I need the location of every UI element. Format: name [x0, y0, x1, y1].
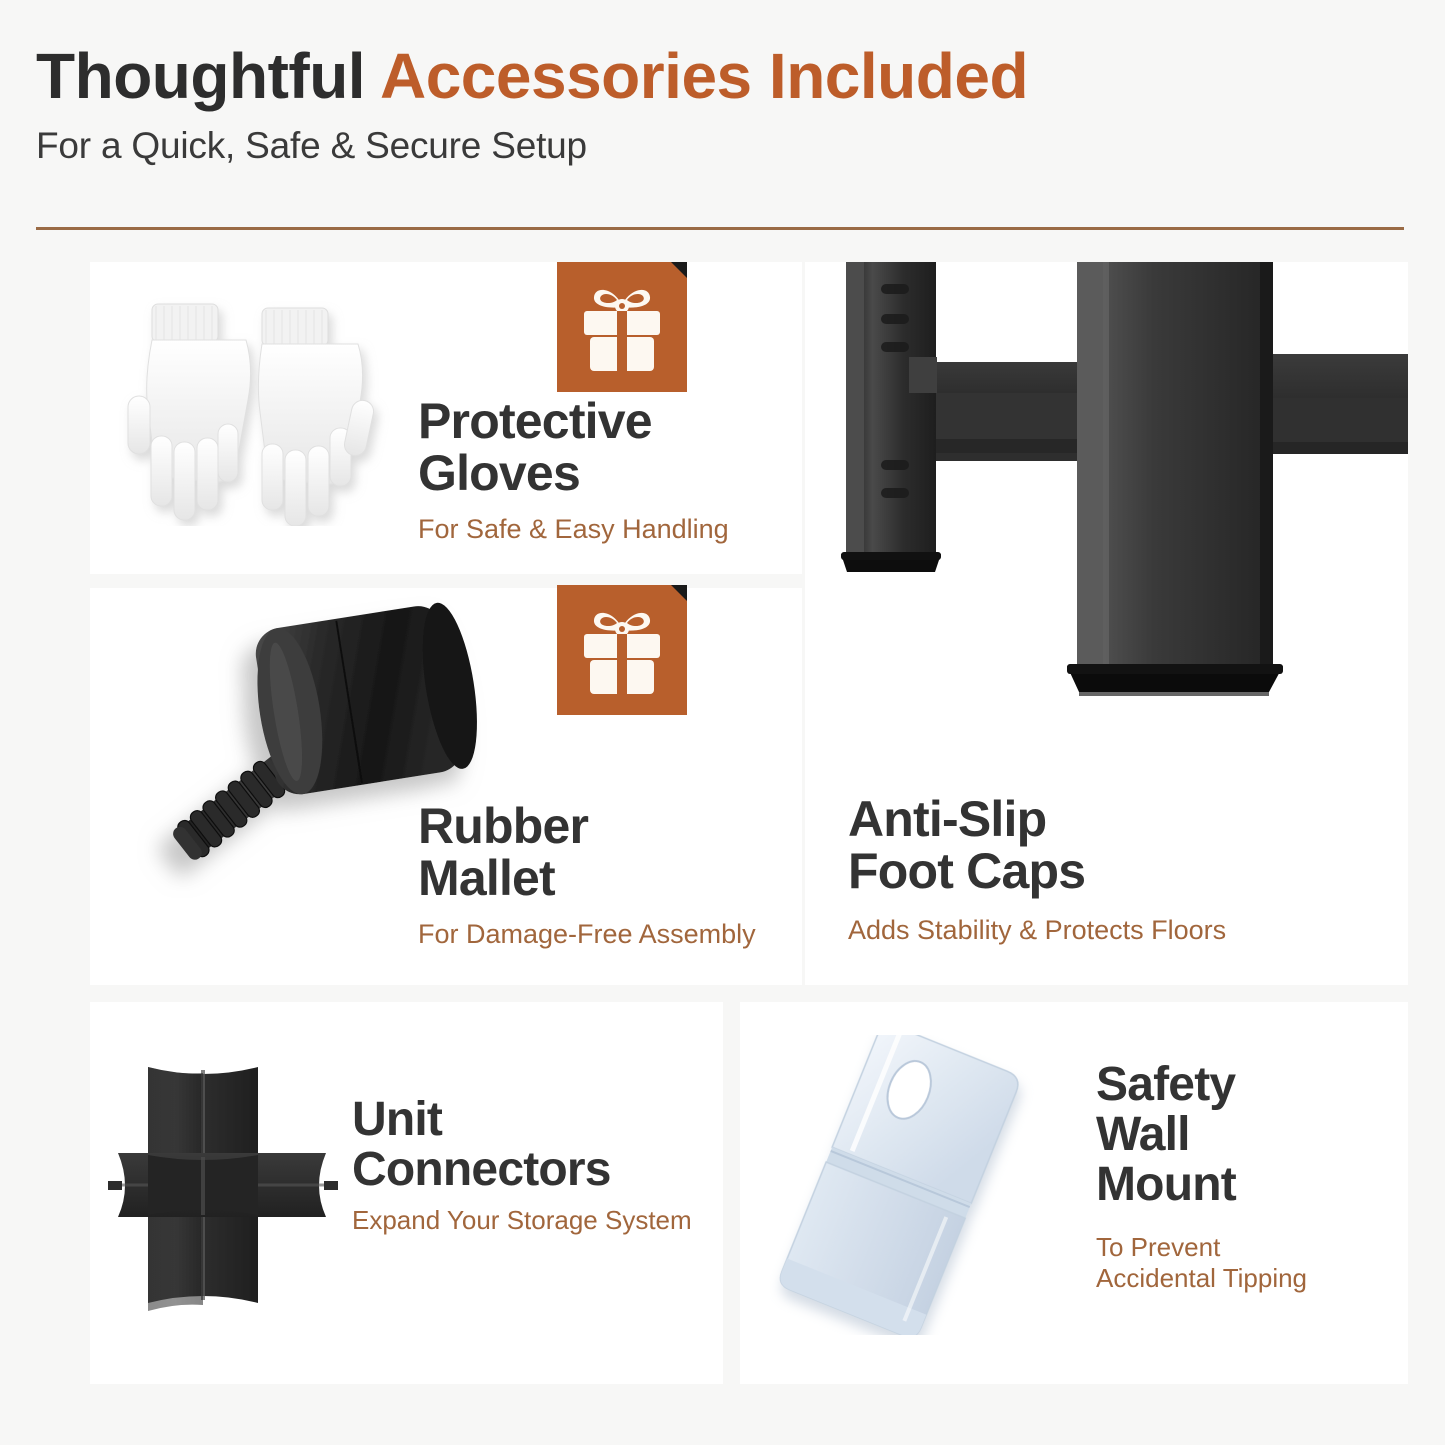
gift-icon [579, 606, 665, 694]
card-title-safety-wall-mount: Safety Wall Mount [1096, 1060, 1236, 1210]
card-title-rubber-mallet: Rubber Mallet [418, 800, 588, 904]
badge-corner-fold [671, 262, 687, 278]
header: Thoughtful Accessories Included For a Qu… [36, 44, 1411, 167]
page-title-accent: Accessories Included [380, 40, 1028, 112]
page-subtitle: For a Quick, Safe & Secure Setup [36, 125, 1411, 167]
gift-badge-gloves [557, 262, 687, 392]
gift-icon [579, 283, 665, 371]
card-caption-safety-wall-mount: To Prevent Accidental Tipping [1096, 1232, 1307, 1293]
infographic-page: Thoughtful Accessories Included For a Qu… [0, 0, 1445, 1445]
gift-badge-mallet [557, 585, 687, 715]
card-caption-rubber-mallet: For Damage-Free Assembly [418, 919, 756, 951]
page-title: Thoughtful Accessories Included [36, 44, 1411, 109]
wall-mount-bracket-icon [770, 1035, 1060, 1335]
shelf-legs-foot-caps-icon [805, 262, 1408, 782]
page-title-dark: Thoughtful [36, 40, 380, 112]
card-caption-protective-gloves: For Safe & Easy Handling [418, 514, 729, 546]
card-title-unit-connectors: Unit Connectors [352, 1095, 611, 1195]
protective-gloves-icon [118, 296, 408, 526]
card-caption-anti-slip-foot-caps: Adds Stability & Protects Floors [848, 915, 1226, 947]
card-title-protective-gloves: Protective Gloves [418, 395, 652, 499]
unit-connector-icon [108, 1055, 338, 1315]
header-divider [36, 227, 1404, 230]
rubber-mallet-icon [100, 595, 540, 965]
card-title-anti-slip-foot-caps: Anti-Slip Foot Caps [848, 793, 1085, 897]
badge-corner-fold [671, 585, 687, 601]
card-caption-unit-connectors: Expand Your Storage System [352, 1205, 692, 1236]
